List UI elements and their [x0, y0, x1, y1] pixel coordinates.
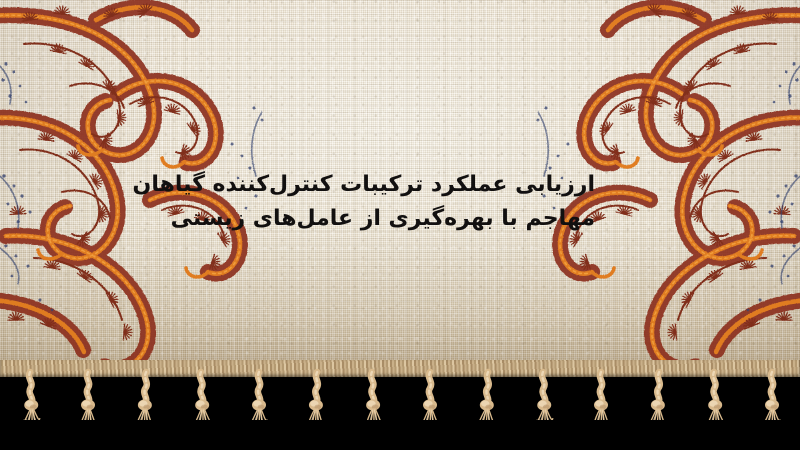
tassel: [530, 372, 558, 427]
slide-canvas: ارزیابی عملکرد ترکیبات کنترل‌کننده گیاها…: [0, 0, 800, 450]
slide-title: ارزیابی عملکرد ترکیبات کنترل‌کننده گیاها…: [0, 168, 800, 236]
title-line-2: مهاجم با بهره‌گیری از عامل‌های زیستی: [0, 202, 595, 236]
tassel: [246, 372, 272, 427]
fabric-selvedge-edge: [0, 360, 800, 377]
title-line-1: ارزیابی عملکرد ترکیبات کنترل‌کننده گیاها…: [0, 168, 595, 202]
tassel: [17, 372, 45, 427]
bottom-black-band: [0, 420, 800, 450]
tassel: [759, 372, 785, 427]
